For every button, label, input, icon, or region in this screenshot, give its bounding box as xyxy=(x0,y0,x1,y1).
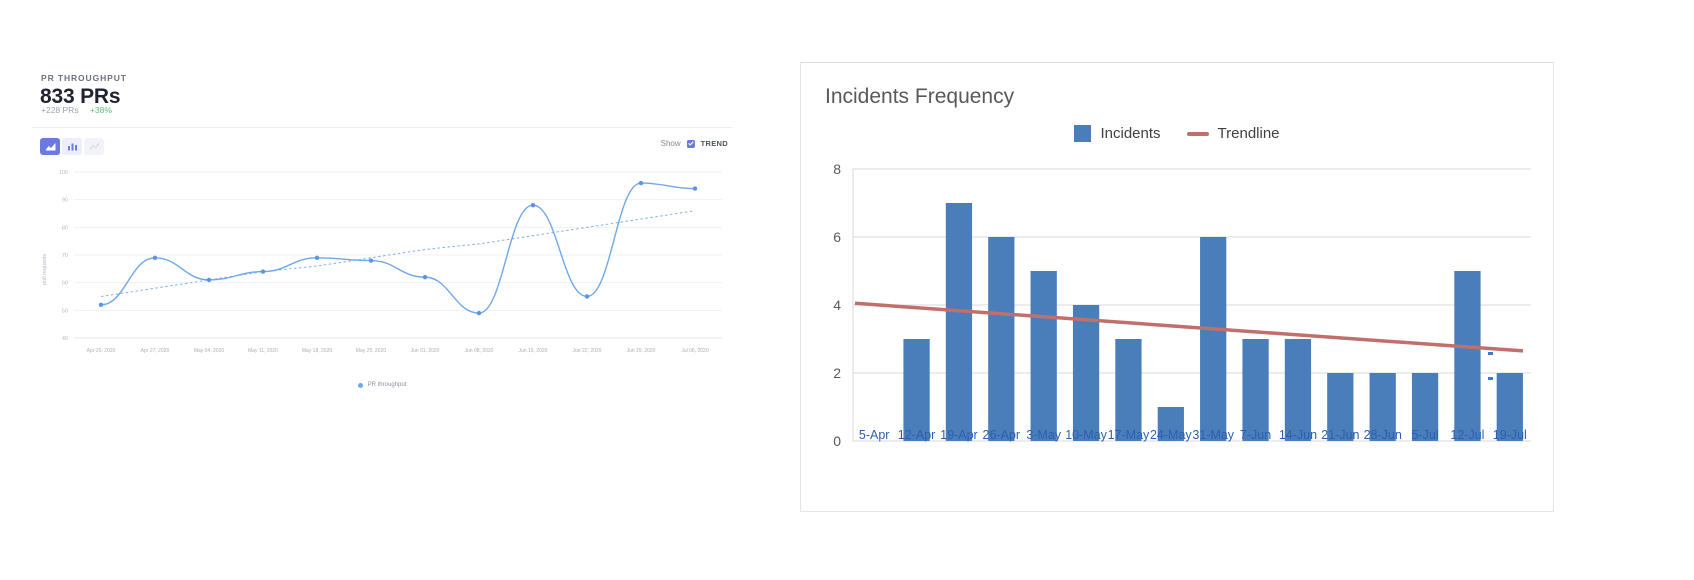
svg-text:31-May: 31-May xyxy=(1192,428,1234,442)
svg-text:70: 70 xyxy=(62,253,68,259)
edge-marker-top xyxy=(1488,352,1493,355)
svg-text:14-Jun: 14-Jun xyxy=(1279,428,1317,442)
svg-text:50: 50 xyxy=(62,308,68,314)
bars xyxy=(903,203,1523,441)
pr-throughput-svg: 405060708090100 Apr 20, 2020Apr 27, 2020… xyxy=(32,160,732,380)
trend-label: TREND xyxy=(701,139,728,148)
svg-text:5-Apr: 5-Apr xyxy=(859,428,890,442)
svg-text:12-Apr: 12-Apr xyxy=(898,428,936,442)
series-points xyxy=(99,181,697,315)
svg-text:26-Apr: 26-Apr xyxy=(983,428,1021,442)
svg-text:Jun 29, 2020: Jun 29, 2020 xyxy=(627,348,656,354)
svg-text:19-Jul: 19-Jul xyxy=(1493,428,1527,442)
svg-text:May 18, 2020: May 18, 2020 xyxy=(302,348,333,354)
pr-throughput-card: PR THROUGHPUT 833 PRs +228 PRs +38% Show xyxy=(0,55,800,385)
legend-line-icon xyxy=(1187,132,1209,136)
svg-text:10-May: 10-May xyxy=(1065,428,1107,442)
incidents-svg: 02468 5-Apr12-Apr19-Apr26-Apr3-May10-May… xyxy=(801,151,1553,491)
series-line xyxy=(101,183,695,313)
svg-text:Apr 20, 2020: Apr 20, 2020 xyxy=(87,348,116,354)
svg-text:90: 90 xyxy=(62,198,68,204)
svg-text:8: 8 xyxy=(833,161,841,177)
svg-text:100: 100 xyxy=(59,170,68,176)
legend-dot-icon xyxy=(358,383,363,388)
chart-type-toggle xyxy=(40,138,104,155)
svg-text:40: 40 xyxy=(62,336,68,342)
svg-text:May 11, 2020: May 11, 2020 xyxy=(248,348,278,354)
delta-percent: +38% xyxy=(90,105,112,115)
svg-text:May 04, 2020: May 04, 2020 xyxy=(194,348,225,354)
trend-checkbox[interactable] xyxy=(687,140,695,148)
svg-text:7-Jun: 7-Jun xyxy=(1240,428,1271,442)
x-axis-ticks: 5-Apr12-Apr19-Apr26-Apr3-May10-May17-May… xyxy=(859,428,1527,442)
y-axis-label: pull requests xyxy=(42,254,48,285)
svg-text:Jun 15, 2020: Jun 15, 2020 xyxy=(519,348,548,354)
svg-text:4: 4 xyxy=(833,297,841,313)
pr-throughput-delta: +228 PRs +38% xyxy=(41,105,112,115)
incidents-chart: 02468 5-Apr12-Apr19-Apr26-Apr3-May10-May… xyxy=(801,151,1553,491)
legend-label-trendline: Trendline xyxy=(1218,125,1280,142)
incidents-title: Incidents Frequency xyxy=(825,85,1014,109)
bar-chart-button[interactable] xyxy=(62,138,82,155)
gridlines xyxy=(74,172,722,338)
card-divider xyxy=(32,127,732,128)
area-chart-button[interactable] xyxy=(40,138,60,155)
edge-marker-bottom xyxy=(1488,377,1493,380)
legend-label-incidents: Incidents xyxy=(1100,125,1160,142)
svg-text:Jun 22, 2020: Jun 22, 2020 xyxy=(573,348,602,354)
incidents-legend: Incidents Trendline xyxy=(801,125,1553,142)
x-axis-ticks: Apr 20, 2020Apr 27, 2020May 04, 2020May … xyxy=(87,348,709,354)
show-label: Show xyxy=(661,139,681,148)
svg-text:0: 0 xyxy=(833,433,841,449)
svg-text:17-May: 17-May xyxy=(1108,428,1150,442)
svg-text:Jun 08, 2020: Jun 08, 2020 xyxy=(465,348,494,354)
pr-throughput-chart: 405060708090100 Apr 20, 2020Apr 27, 2020… xyxy=(32,160,732,380)
y-axis-ticks: 405060708090100 xyxy=(59,170,68,342)
svg-text:Jun 01, 2020: Jun 01, 2020 xyxy=(411,348,440,354)
legend-item-incidents[interactable]: Incidents xyxy=(1074,125,1160,142)
svg-text:3-May: 3-May xyxy=(1026,428,1061,442)
trend-line xyxy=(101,211,695,297)
pr-throughput-kicker: PR THROUGHPUT xyxy=(41,73,127,83)
line-chart-button[interactable] xyxy=(84,138,104,155)
svg-text:May 25, 2020: May 25, 2020 xyxy=(356,348,387,354)
svg-text:12-Jul: 12-Jul xyxy=(1450,428,1484,442)
legend-label: PR throughput xyxy=(368,382,407,388)
svg-text:5-Jul: 5-Jul xyxy=(1412,428,1439,442)
incidents-frequency-card: Incidents Frequency Incidents Trendline … xyxy=(800,62,1554,512)
svg-text:Jul 06, 2020: Jul 06, 2020 xyxy=(681,348,708,354)
chart-legend: PR throughput xyxy=(32,382,732,388)
svg-text:21-Jun: 21-Jun xyxy=(1321,428,1359,442)
delta-absolute: +228 PRs xyxy=(41,105,79,115)
show-trend-control[interactable]: Show TREND xyxy=(661,139,728,148)
y-axis-ticks: 02468 xyxy=(833,161,841,449)
area-chart-icon xyxy=(45,142,56,151)
svg-text:80: 80 xyxy=(62,225,68,231)
svg-text:60: 60 xyxy=(62,281,68,287)
bar-chart-icon xyxy=(67,142,78,151)
legend-swatch-icon xyxy=(1074,125,1091,142)
svg-text:28-Jun: 28-Jun xyxy=(1364,428,1402,442)
svg-text:Apr 27, 2020: Apr 27, 2020 xyxy=(141,348,170,354)
svg-text:2: 2 xyxy=(833,365,841,381)
svg-text:6: 6 xyxy=(833,229,841,245)
legend-item-trendline[interactable]: Trendline xyxy=(1187,125,1280,142)
svg-text:19-Apr: 19-Apr xyxy=(940,428,978,442)
line-chart-icon xyxy=(89,142,100,151)
check-icon xyxy=(688,141,694,146)
svg-text:24-May: 24-May xyxy=(1150,428,1192,442)
